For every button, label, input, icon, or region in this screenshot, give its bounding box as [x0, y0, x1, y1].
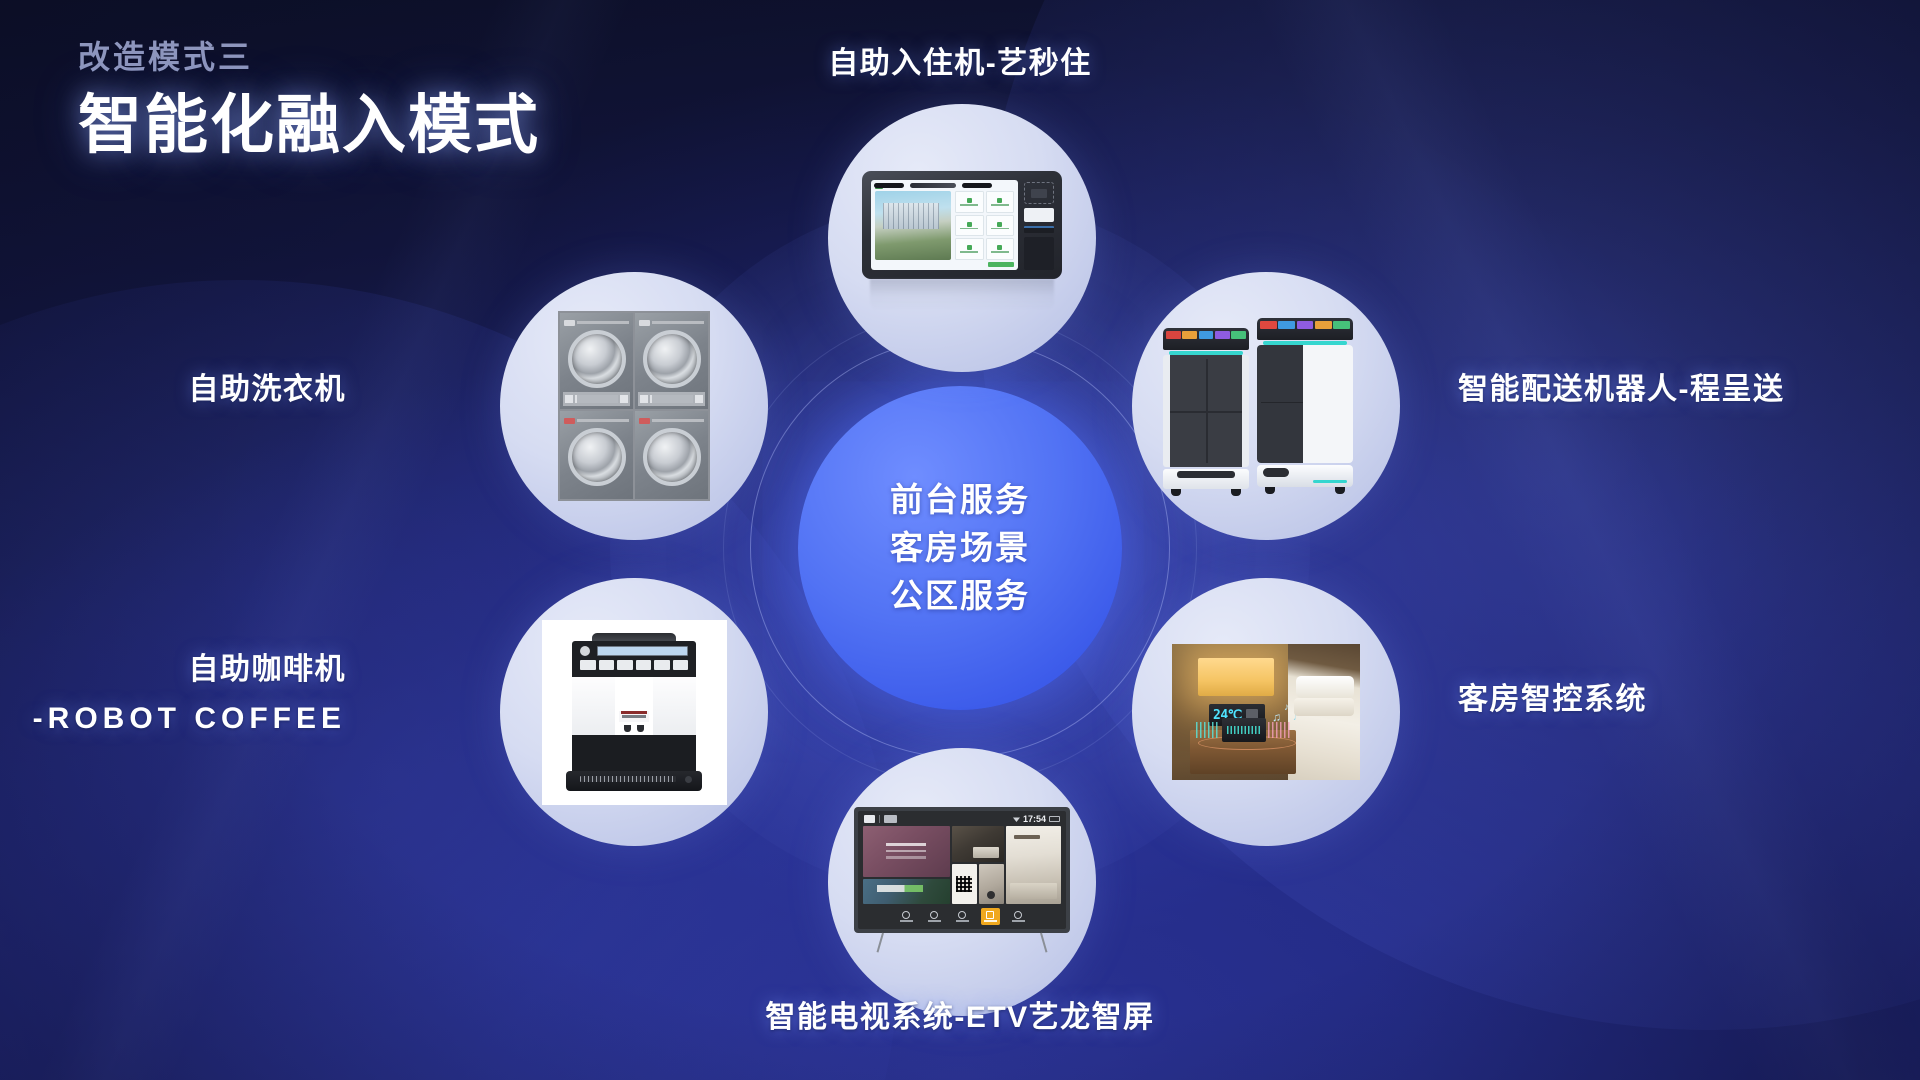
node-room-control[interactable]: 24℃ ♫♪♩ [1132, 578, 1400, 846]
slide-headline: 智能化融入模式 [78, 85, 540, 165]
slide-kicker: 改造模式三 [78, 36, 540, 79]
label-delivery-robot: 智能配送机器人-程呈送 [1458, 368, 1785, 412]
tv-clock: 17:54 [1023, 814, 1046, 824]
node-smart-tv[interactable]: 17:54 [828, 748, 1096, 1016]
center-line-1: 前台服务 [890, 476, 1030, 524]
television-icon: 17:54 [854, 807, 1070, 957]
label-coffee-machine: 自助咖啡机 -ROBOT COFFEE [33, 648, 346, 740]
kiosk-icon [862, 163, 1062, 313]
center-line-2: 客房场景 [890, 524, 1030, 572]
label-room-control: 客房智控系统 [1458, 678, 1647, 722]
label-laundry: 自助洗衣机 [189, 368, 347, 412]
center-line-3: 公区服务 [890, 572, 1030, 620]
node-laundry[interactable] [500, 272, 768, 540]
label-coffee-machine-line1: 自助咖啡机 [189, 653, 347, 686]
label-coffee-machine-line2: -ROBOT COFFEE [33, 697, 346, 741]
center-core-circle[interactable]: 前台服务 客房场景 公区服务 [798, 386, 1122, 710]
label-self-checkin: 自助入住机-艺秒住 [828, 42, 1092, 86]
label-smart-tv: 智能电视系统-ETV艺龙智屏 [765, 996, 1154, 1040]
node-delivery-robot[interactable] [1132, 272, 1400, 540]
hotel-room-icon: 24℃ ♫♪♩ [1172, 644, 1360, 780]
node-coffee-machine[interactable] [500, 578, 768, 846]
washing-machine-icon [558, 311, 710, 501]
title-block: 改造模式三 智能化融入模式 [78, 36, 540, 165]
robot-icon [1163, 316, 1369, 496]
node-self-checkin[interactable] [828, 104, 1096, 372]
coffee-machine-icon [542, 620, 727, 805]
